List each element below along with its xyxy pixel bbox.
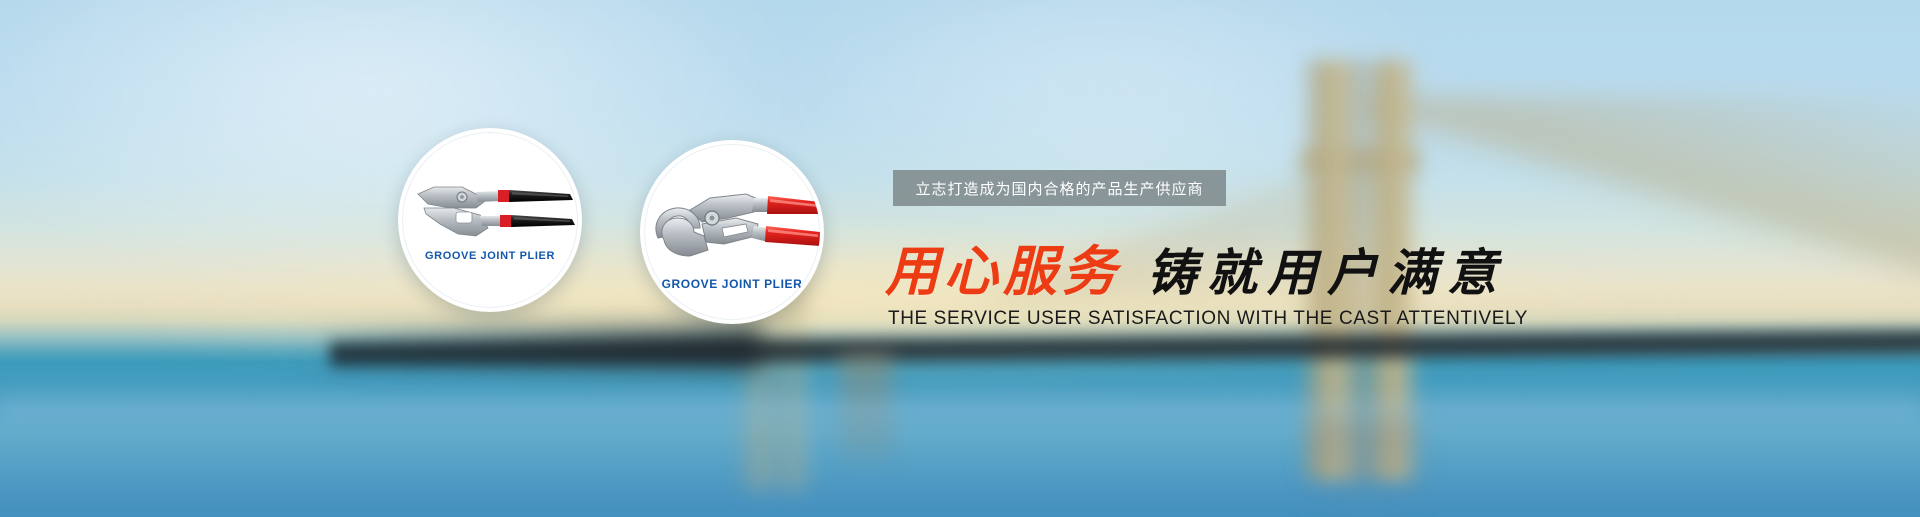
- headline-black-text: 铸就用户满意: [1147, 248, 1507, 298]
- tagline-bar: 立志打造成为国内合格的产品生产供应商: [893, 170, 1226, 206]
- sea-highlight-streak: [0, 392, 1920, 430]
- product-circle-1[interactable]: GROOVE JOINT PLIER: [398, 128, 582, 312]
- product-label-1: GROOVE JOINT PLIER: [425, 250, 555, 262]
- groove-joint-plier-straight-icon: [410, 168, 578, 260]
- bridge-reflection: [1310, 415, 1420, 517]
- headline-red-text: 用心服务: [885, 244, 1121, 298]
- headline-english-subtitle: THE SERVICE USER SATISFACTION WITH THE C…: [888, 308, 1528, 330]
- product-label-2: GROOVE JOINT PLIER: [662, 277, 803, 291]
- headline: 用心服务 铸就用户满意: [885, 244, 1507, 298]
- tagline-text: 立志打造成为国内合格的产品生产供应商: [915, 178, 1203, 199]
- groove-joint-plier-curved-icon: [650, 174, 822, 284]
- product-circle-2[interactable]: GROOVE JOINT PLIER: [640, 140, 824, 324]
- hero-banner: GROOVE JOINT PLIER: [0, 0, 1920, 517]
